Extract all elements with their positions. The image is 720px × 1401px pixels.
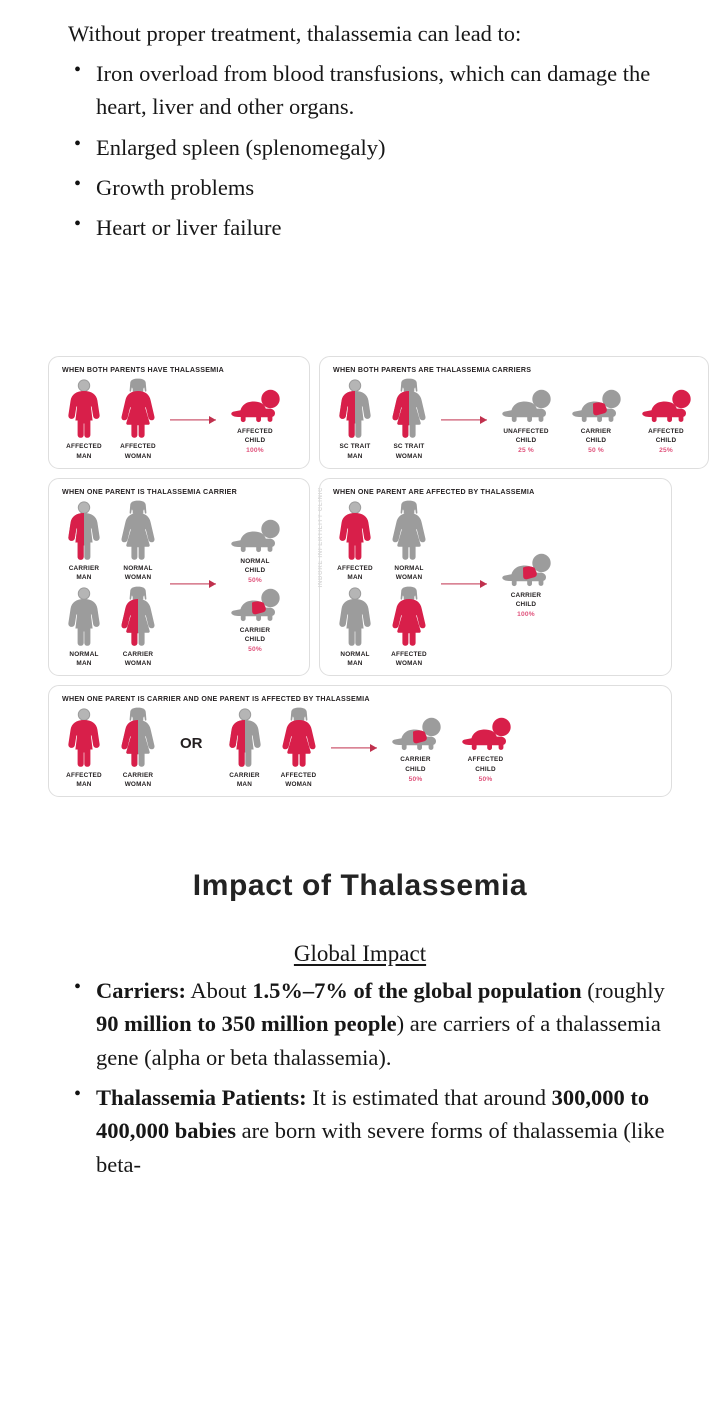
children-outcomes: CARRIER CHILD50%AFFECTED CHILD50% [383,713,519,782]
emphasis-text: 90 million to 350 million people [96,1011,397,1036]
list-item: Heart or liver failure [96,211,686,244]
child-outcome-carrier: CARRIER CHILD100% [493,549,559,618]
parent-pair-1: AFFECTED MANNORMAL WOMAN [329,500,435,582]
children-stack: NORMAL CHILD50%CARRIER CHILD50% [222,515,288,653]
parent-figure-affected-man: AFFECTED MAN [329,500,381,582]
child-percentage: 50% [409,776,423,783]
parent-label: NORMAL MAN [69,650,98,668]
parent-label: SC TRAIT MAN [339,442,370,460]
child-percentage: 50% [248,646,262,653]
parent-pair-1: CARRIER MANNORMAL WOMAN [58,500,164,582]
parent-pair-stack: AFFECTED MANNORMAL WOMANNORMAL MANAFFECT… [329,500,435,668]
man-carrier-icon [63,500,105,562]
parent-figure-affected-woman: AFFECTED WOMAN [383,586,435,668]
baby-carrier-icon [571,385,621,425]
body-text: About [186,978,252,1003]
parent-label: AFFECTED MAN [66,771,102,789]
parent-pair: AFFECTED MANAFFECTED WOMAN [58,378,164,460]
baby-affected-icon [461,713,511,753]
children-outcomes: AFFECTED CHILD100% [222,385,288,454]
child-label: CARRIER CHILD [581,427,612,445]
parent-pair-b: CARRIER MANAFFECTED WOMAN [219,707,325,789]
panel-body: AFFECTED MANNORMAL WOMANNORMAL MANAFFECT… [329,500,662,668]
parent-pair-2: NORMAL MANAFFECTED WOMAN [329,586,435,668]
panel-both-parents-affected: WHEN BOTH PARENTS HAVE THALASSEMIAAFFECT… [48,356,310,468]
clinic-watermark: INDORE INFERTILITY CLINIC [318,487,324,587]
panel-title: WHEN ONE PARENT IS THALASSEMIA CARRIER [62,488,300,496]
parent-figure-carrier-woman: SC TRAIT WOMAN [383,378,435,460]
parent-label: CARRIER MAN [69,564,100,582]
man-affected-icon [334,500,376,562]
panel-title: WHEN BOTH PARENTS HAVE THALASSEMIA [62,366,300,374]
parent-figure-normal-woman: NORMAL WOMAN [112,500,164,582]
child-outcome-carrier: CARRIER CHILD50% [222,584,288,653]
baby-carrier-icon [391,713,441,753]
man-affected-icon [63,378,105,440]
panel-body: SC TRAIT MANSC TRAIT WOMANUNAFFECTED CHI… [329,378,699,460]
intro-lead: Without proper treatment, thalassemia ca… [68,18,686,50]
parent-figure-affected-woman: AFFECTED WOMAN [112,378,164,460]
parent-figure-carrier-man: SC TRAIT MAN [329,378,381,460]
children-outcomes: CARRIER CHILD100% [493,549,559,618]
or-separator: OR [180,735,203,762]
child-label: AFFECTED CHILD [648,427,684,445]
parent-figure-carrier-woman: CARRIER WOMAN [112,707,164,789]
infographic-panels: WHEN BOTH PARENTS HAVE THALASSEMIAAFFECT… [48,356,672,797]
child-percentage: 50% [248,577,262,584]
baby-carrier-icon [230,584,280,624]
parent-pair-2: NORMAL MANCARRIER WOMAN [58,586,164,668]
man-carrier-icon [224,707,266,769]
child-outcome-affected: AFFECTED CHILD25% [633,385,699,454]
inheritance-arrow-icon [441,414,487,426]
thalassemia-inheritance-infographic: WHEN BOTH PARENTS HAVE THALASSEMIAAFFECT… [0,356,720,797]
parent-pair-stack: CARRIER MANNORMAL WOMANNORMAL MANCARRIER… [58,500,164,668]
panel-body: AFFECTED MANAFFECTED WOMANAFFECTED CHILD… [58,378,300,460]
inheritance-arrow-icon [441,578,487,590]
parent-figure-carrier-man: CARRIER MAN [219,707,271,789]
baby-affected-icon [230,385,280,425]
child-label: UNAFFECTED CHILD [503,427,548,445]
parent-figure-affected-man: AFFECTED MAN [58,707,110,789]
child-label: NORMAL CHILD [240,557,269,575]
list-item: Enlarged spleen (splenomegaly) [96,131,686,164]
baby-affected-icon [641,385,691,425]
parent-label: CARRIER WOMAN [123,771,154,789]
list-item: Carriers: About 1.5%–7% of the global po… [96,974,686,1074]
panel-title: WHEN ONE PARENT ARE AFFECTED BY THALASSE… [333,488,662,496]
child-percentage: 25% [659,447,673,454]
child-outcome-normal: NORMAL CHILD50% [222,515,288,584]
body-text: (roughly [582,978,665,1003]
parent-label: AFFECTED MAN [66,442,102,460]
parent-label: AFFECTED MAN [337,564,373,582]
baby-carrier-icon [501,549,551,589]
child-outcome-affected: AFFECTED CHILD50% [453,713,519,782]
baby-normal-icon [230,515,280,555]
parent-label: CARRIER WOMAN [123,650,154,668]
parent-label: AFFECTED WOMAN [120,442,156,460]
woman-carrier-icon [117,586,159,648]
woman-affected-icon [278,707,320,769]
body-text: It is estimated that around [307,1085,552,1110]
baby-normal-icon [501,385,551,425]
woman-carrier-icon [117,707,159,769]
woman-normal-icon [388,500,430,562]
man-normal-icon [63,586,105,648]
woman-affected-icon [388,586,430,648]
man-carrier-icon [334,378,376,440]
impact-subtitle: Global Impact [34,941,686,967]
list-item: Iron overload from blood transfusions, w… [96,57,686,124]
parent-label: AFFECTED WOMAN [391,650,427,668]
list-item: Thalassemia Patients: It is estimated th… [96,1081,686,1181]
inheritance-arrow-icon [170,414,216,426]
inheritance-arrow-icon [331,742,377,754]
children-outcomes: UNAFFECTED CHILD25 %CARRIER CHILD50 %AFF… [493,385,699,454]
child-outcome-affected: AFFECTED CHILD100% [222,385,288,454]
child-outcome-normal: UNAFFECTED CHILD25 % [493,385,559,454]
parent-pair-a: AFFECTED MANCARRIER WOMAN [58,707,164,789]
man-normal-icon [334,586,376,648]
child-outcome-carrier: CARRIER CHILD50% [383,713,449,782]
woman-normal-icon [117,500,159,562]
child-percentage: 25 % [518,447,534,454]
parent-figure-affected-man: AFFECTED MAN [58,378,110,460]
parent-label: NORMAL WOMAN [394,564,423,582]
panel-body: CARRIER MANNORMAL WOMANNORMAL MANCARRIER… [58,500,300,668]
panel-carrier-and-affected: WHEN ONE PARENT IS CARRIER AND ONE PAREN… [48,685,672,797]
panel-one-parent-affected: WHEN ONE PARENT ARE AFFECTED BY THALASSE… [319,478,672,676]
parent-figure-carrier-woman: CARRIER WOMAN [112,586,164,668]
panel-title: WHEN ONE PARENT IS CARRIER AND ONE PAREN… [62,695,662,703]
panel-title: WHEN BOTH PARENTS ARE THALASSEMIA CARRIE… [333,366,699,374]
child-percentage: 50% [479,776,493,783]
parent-pair: SC TRAIT MANSC TRAIT WOMAN [329,378,435,460]
parent-label: AFFECTED WOMAN [281,771,317,789]
parent-label: NORMAL MAN [340,650,369,668]
woman-affected-icon [117,378,159,440]
impact-bullet-list: Carriers: About 1.5%–7% of the global po… [34,974,686,1181]
panel-both-parents-carriers: WHEN BOTH PARENTS ARE THALASSEMIA CARRIE… [319,356,709,468]
child-percentage: 100% [246,447,264,454]
child-label: AFFECTED CHILD [237,427,273,445]
child-label: CARRIER CHILD [511,591,542,609]
parent-figure-normal-woman: NORMAL WOMAN [383,500,435,582]
emphasis-text: 1.5%–7% of the global population [252,978,581,1003]
parent-figure-affected-woman: AFFECTED WOMAN [273,707,325,789]
emphasis-text: Thalassemia Patients: [96,1085,307,1110]
parent-figure-carrier-man: CARRIER MAN [58,500,110,582]
list-item: Growth problems [96,171,686,204]
child-percentage: 50 % [588,447,604,454]
child-label: CARRIER CHILD [240,626,271,644]
panel-one-parent-carrier: WHEN ONE PARENT IS THALASSEMIA CARRIERCA… [48,478,310,676]
child-label: CARRIER CHILD [400,755,431,773]
child-outcome-carrier: CARRIER CHILD50 % [563,385,629,454]
panel-body: AFFECTED MANCARRIER WOMANORCARRIER MANAF… [58,707,662,789]
infographic-row-3: WHEN ONE PARENT IS CARRIER AND ONE PAREN… [48,685,672,797]
man-affected-icon [63,707,105,769]
woman-carrier-icon [388,378,430,440]
parent-label: CARRIER MAN [229,771,260,789]
intro-bullet-list: Iron overload from blood transfusions, w… [34,57,686,244]
inheritance-arrow-icon [170,578,216,590]
infographic-row-1: WHEN BOTH PARENTS HAVE THALASSEMIAAFFECT… [48,356,672,468]
parent-figure-normal-man: NORMAL MAN [329,586,381,668]
page-title: Impact of Thalassemia [34,869,686,903]
parent-label: SC TRAIT WOMAN [393,442,424,460]
child-percentage: 100% [517,611,535,618]
infographic-row-2: WHEN ONE PARENT IS THALASSEMIA CARRIERCA… [48,478,672,676]
emphasis-text: Carriers: [96,978,186,1003]
parent-label: NORMAL WOMAN [123,564,152,582]
impact-section: Impact of Thalassemia Global Impact Carr… [0,869,720,1181]
intro-section: Without proper treatment, thalassemia ca… [0,18,720,244]
parent-figure-normal-man: NORMAL MAN [58,586,110,668]
child-label: AFFECTED CHILD [468,755,504,773]
